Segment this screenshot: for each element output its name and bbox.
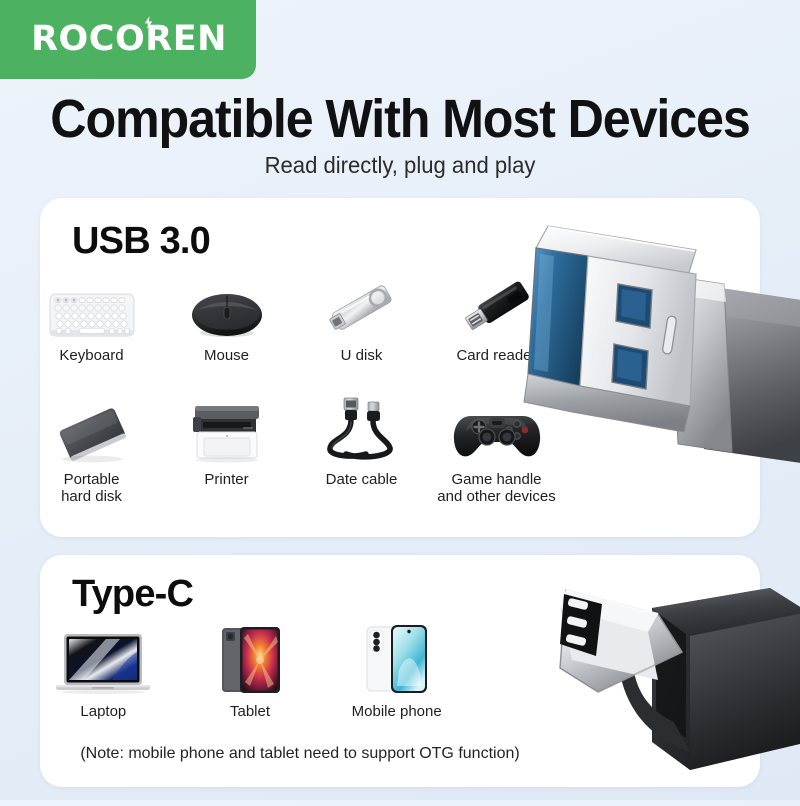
usb-device-row-1: Keyboard Mouse [24, 268, 564, 364]
device-label: Portable hard disk [61, 471, 122, 506]
device-card-reader: Card reader [429, 268, 564, 364]
mouse-icon [159, 268, 294, 340]
device-label: U disk [341, 347, 383, 364]
device-label: Keyboard [59, 347, 123, 364]
keyboard-icon [24, 268, 159, 340]
device-mobile-phone: Mobile phone [323, 618, 470, 720]
printer-icon [159, 392, 294, 464]
device-label: Card reader [456, 347, 536, 364]
usb-device-row-2: Portable hard disk Printer [24, 392, 564, 506]
device-label: Date cable [326, 471, 398, 488]
device-game-handle: Game handle and other devices [429, 392, 564, 506]
portable-hard-disk-icon [24, 392, 159, 464]
page-title: Compatible With Most Devices [28, 88, 772, 150]
game-controller-icon [429, 392, 564, 464]
device-label: Laptop [80, 703, 126, 720]
data-cable-icon [294, 392, 429, 464]
tablet-icon [177, 618, 324, 696]
device-label: Mobile phone [352, 703, 442, 720]
device-label: Mouse [204, 347, 249, 364]
card-reader-icon [429, 268, 564, 340]
page-subtitle: Read directly, plug and play [16, 152, 784, 179]
typec-device-row: Laptop [30, 618, 470, 720]
device-keyboard: Keyboard [24, 268, 159, 364]
device-u-disk: U disk [294, 268, 429, 364]
usb-card-title: USB 3.0 [72, 220, 210, 263]
device-printer: Printer [159, 392, 294, 506]
mobile-phone-icon [323, 618, 470, 696]
device-portable-hard-disk: Portable hard disk [24, 392, 159, 506]
device-mouse: Mouse [159, 268, 294, 364]
device-laptop: Laptop [30, 618, 177, 720]
brand-wordmark: ROCOREN [29, 22, 227, 57]
brand-badge: ROCOREN [0, 0, 256, 79]
laptop-icon [30, 618, 177, 696]
device-label: Printer [204, 471, 248, 488]
lightning-bolt-icon [143, 16, 154, 29]
device-label: Game handle and other devices [437, 471, 555, 506]
device-tablet: Tablet [177, 618, 324, 720]
device-label: Tablet [230, 703, 270, 720]
otg-note: (Note: mobile phone and tablet need to s… [40, 745, 560, 763]
device-date-cable: Date cable [294, 392, 429, 506]
usb-flash-drive-icon [294, 268, 429, 340]
typec-card-title: Type-C [72, 573, 193, 616]
brand-name: ROCOREN [31, 19, 227, 59]
